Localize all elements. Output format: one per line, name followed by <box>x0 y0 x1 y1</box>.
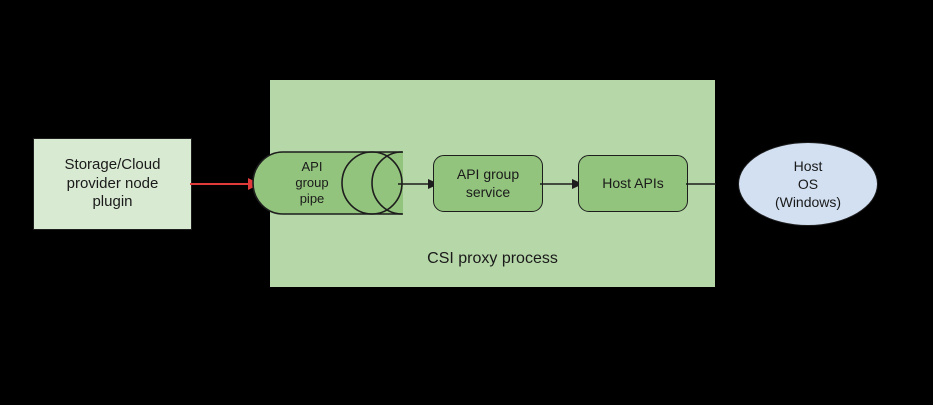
host-os-ellipse: Host OS (Windows) <box>738 142 878 226</box>
api-group-service-label: API group service <box>457 166 519 201</box>
api-group-pipe-svg <box>252 151 403 215</box>
csi-proxy-process-label: CSI proxy process <box>270 250 715 268</box>
edge-host-apis-to-host-os <box>686 168 718 200</box>
api-group-pipe-shape: API group pipe <box>252 151 403 215</box>
node-plugin-label: Storage/Cloud provider node plugin <box>65 156 161 212</box>
host-apis-box: Host APIs <box>578 155 688 212</box>
host-apis-label: Host APIs <box>602 175 663 193</box>
api-group-service-box: API group service <box>433 155 543 212</box>
node-plugin-box: Storage/Cloud provider node plugin <box>33 138 192 230</box>
edge-host-apis-to-host-os-svg <box>686 168 718 200</box>
diagram-canvas: CSI proxy process Storage/Cloud provider… <box>0 0 933 405</box>
host-os-label: Host OS (Windows) <box>775 157 841 212</box>
